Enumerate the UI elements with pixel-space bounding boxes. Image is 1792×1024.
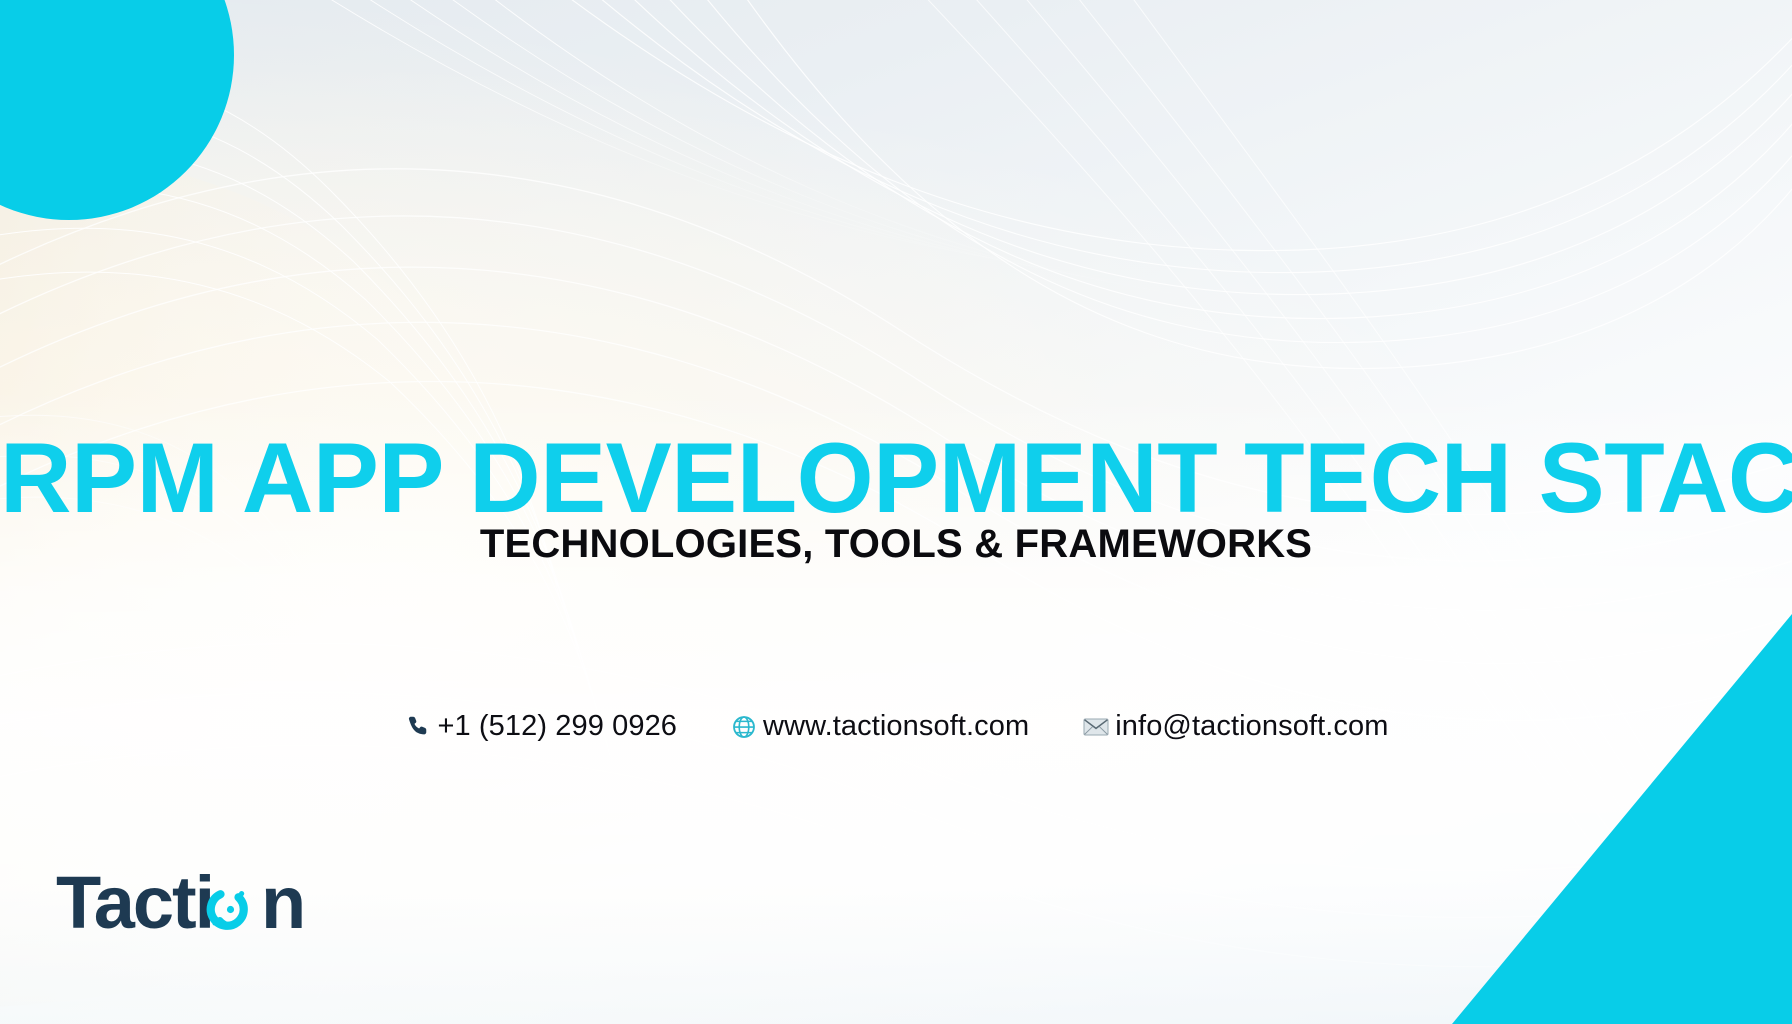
globe-icon: [729, 712, 759, 742]
taction-logo[interactable]: Tacti n: [56, 872, 324, 944]
page-title: RPM APP DEVELOPMENT TECH STACK: [0, 428, 1792, 527]
page-subtitle: TECHNOLOGIES, TOOLS & FRAMEWORKS: [0, 524, 1792, 564]
logo-swirl-mark: [211, 891, 244, 926]
phone-number: +1 (512) 299 0926: [438, 710, 678, 743]
contact-info-bar: +1 (512) 299 0926 www.tactionsoft.com: [0, 710, 1792, 743]
contact-item-email[interactable]: info@tactionsoft.com: [1081, 710, 1388, 743]
email-address: info@tactionsoft.com: [1115, 710, 1388, 743]
phone-icon: [404, 712, 434, 742]
slide-canvas: RPM APP DEVELOPMENT TECH STACK TECHNOLOG…: [0, 0, 1792, 1024]
logo-wordmark-before: Tacti: [56, 870, 213, 944]
contact-item-website[interactable]: www.tactionsoft.com: [729, 710, 1029, 743]
contact-item-phone[interactable]: +1 (512) 299 0926: [404, 710, 678, 743]
slide-content: RPM APP DEVELOPMENT TECH STACK TECHNOLOG…: [0, 0, 1792, 1024]
website-url: www.tactionsoft.com: [763, 710, 1029, 743]
envelope-icon: [1081, 712, 1111, 742]
logo-wordmark-after: n: [261, 870, 304, 944]
